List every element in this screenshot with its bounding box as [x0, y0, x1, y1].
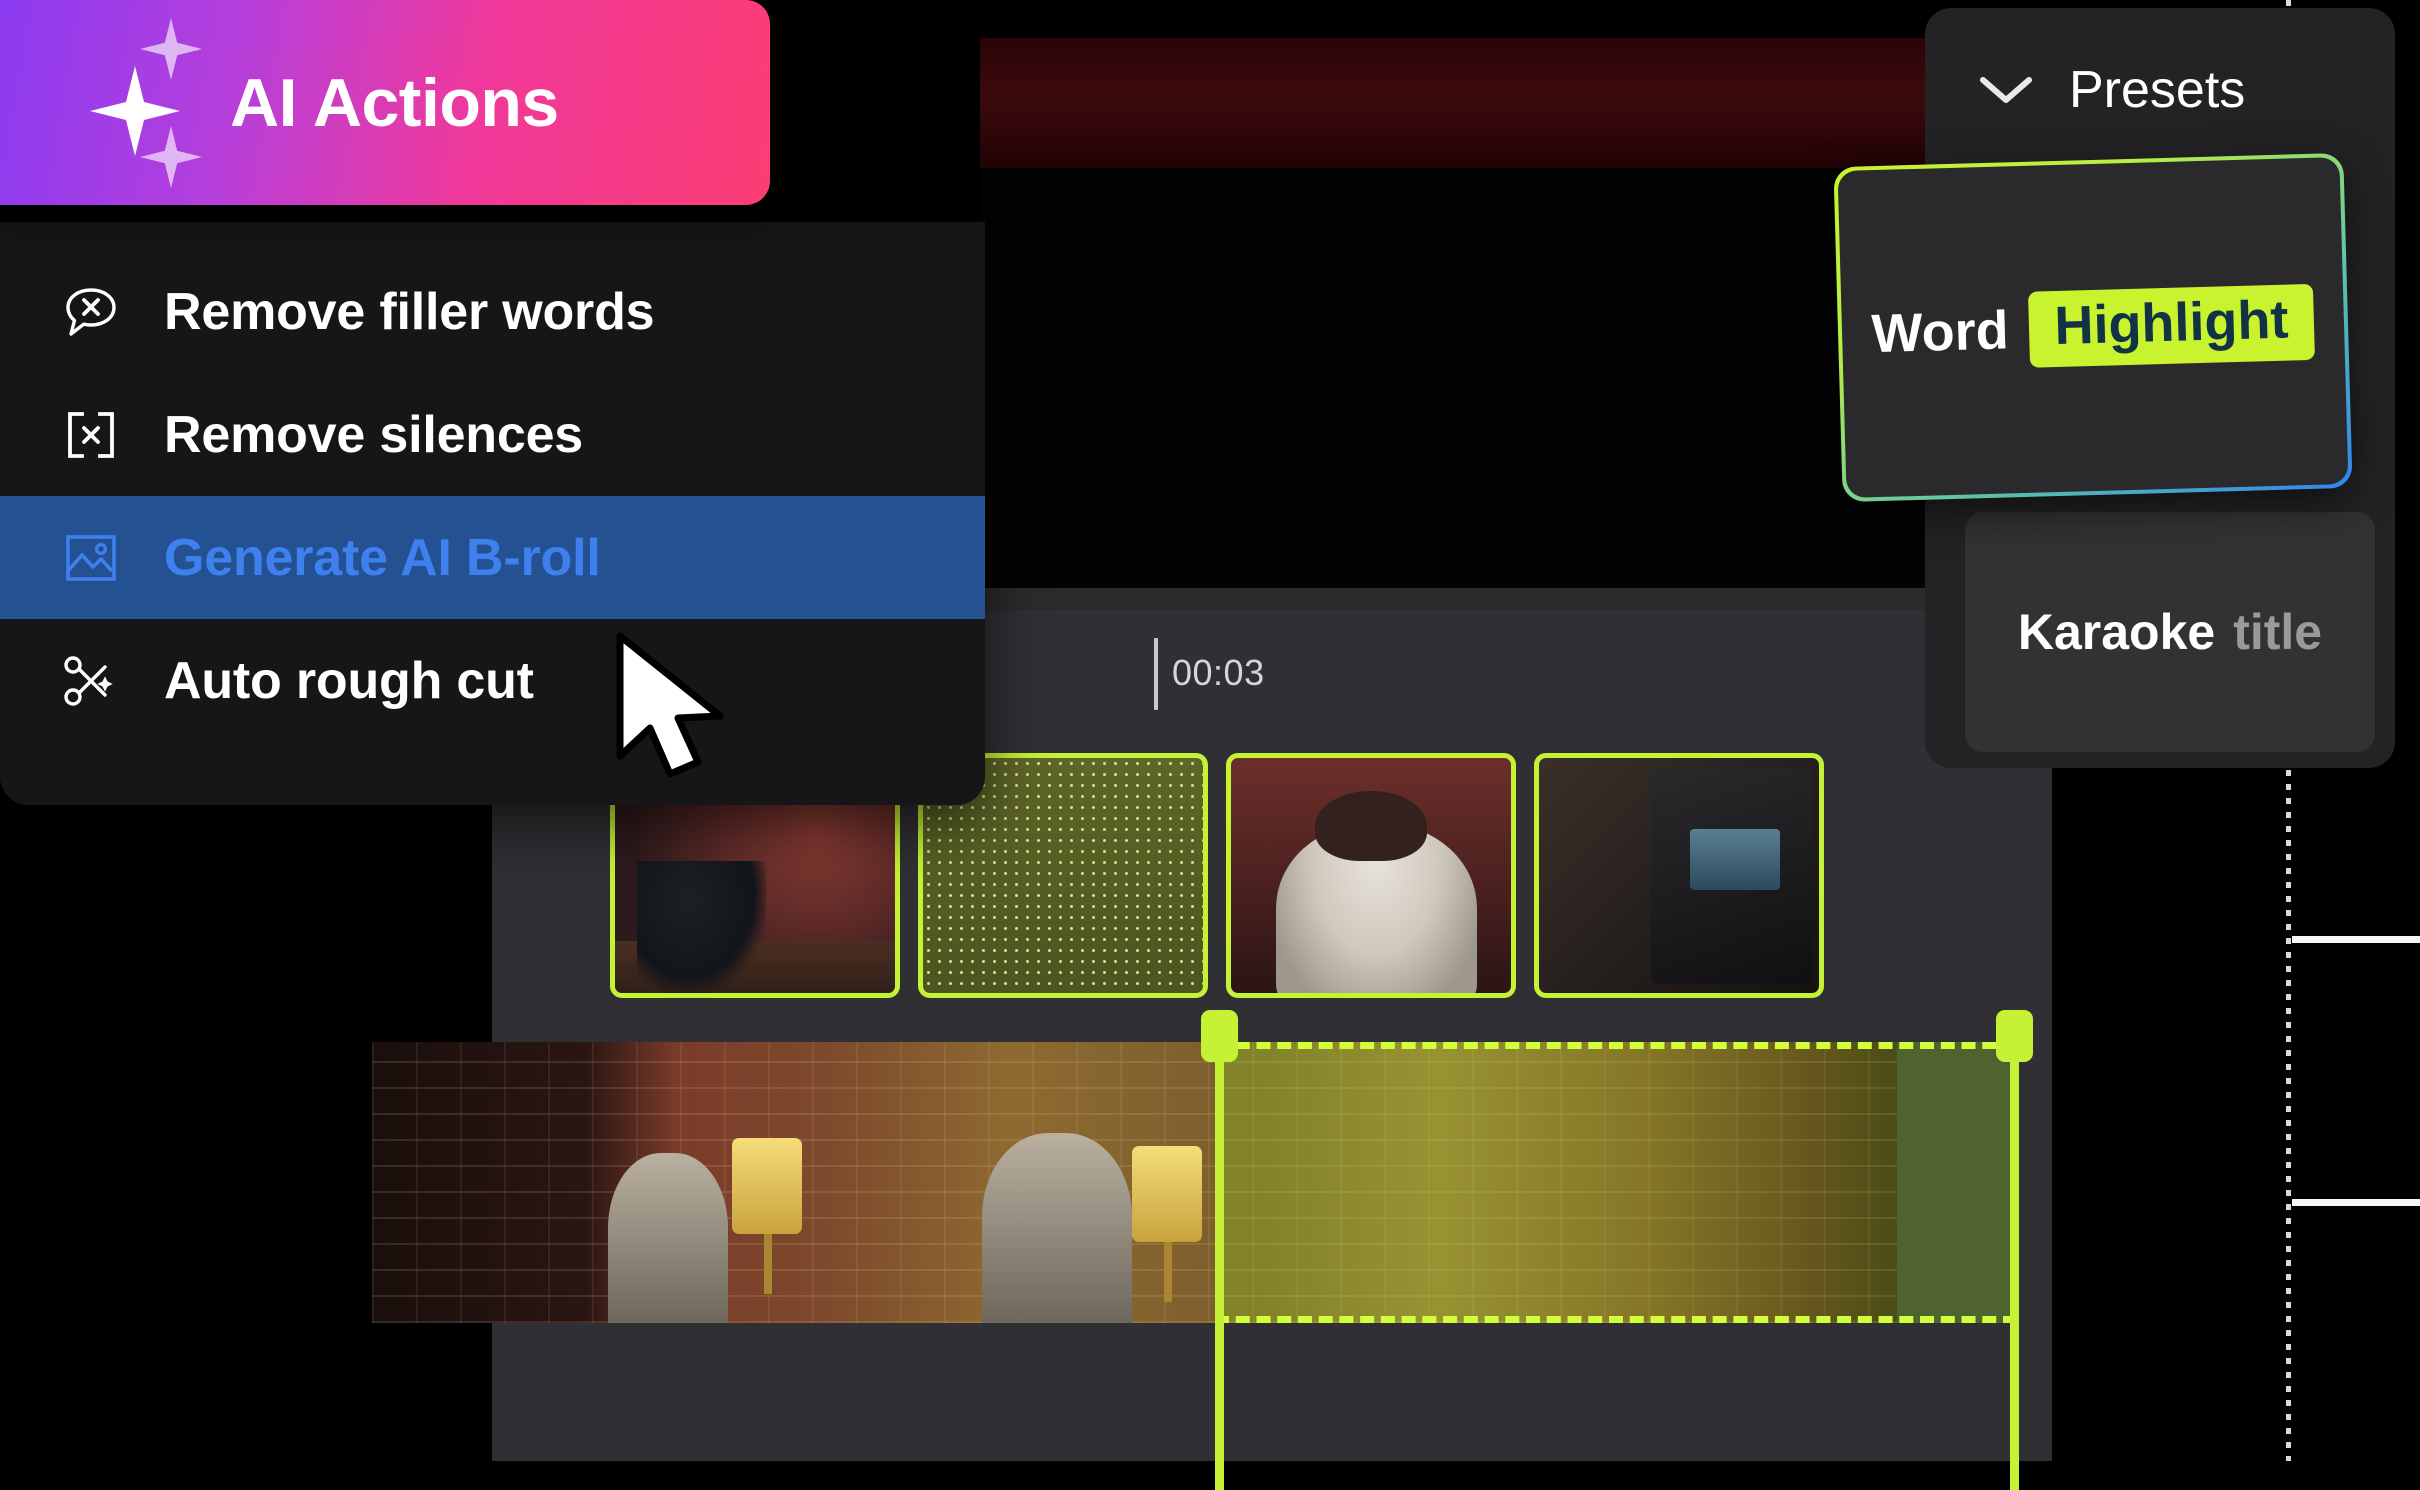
image-icon — [60, 527, 122, 589]
arrow-cursor — [612, 632, 742, 782]
rail-divider — [2292, 936, 2420, 943]
presets-header[interactable]: Presets — [1925, 8, 2395, 120]
preview-toolbar-strip — [980, 588, 1940, 610]
sparkles-icon — [0, 0, 230, 205]
chevron-down-icon[interactable] — [1977, 73, 2035, 107]
menu-item-remove-filler-words[interactable]: Remove filler words — [0, 250, 985, 373]
video-preview-band — [980, 38, 1940, 168]
ai-actions-label: AI Actions — [230, 64, 559, 142]
bracket-x-icon — [60, 404, 122, 466]
menu-item-label: Auto rough cut — [164, 651, 534, 711]
trim-handle-right[interactable] — [2010, 1010, 2019, 1490]
karaoke-main-word: Karaoke — [2018, 603, 2215, 661]
menu-item-label: Generate AI B-roll — [164, 528, 601, 588]
ai-actions-menu[interactable]: Remove filler words Remove silences Gene… — [0, 222, 985, 805]
preset-highlight-chip: Highlight — [2027, 283, 2315, 367]
broll-clip-thumbnail[interactable] — [1534, 753, 1824, 998]
speech-bubble-x-icon — [60, 281, 122, 343]
preset-card-word-highlight[interactable]: Word Highlight — [1833, 153, 2352, 502]
ruler-tick — [1154, 638, 1158, 710]
menu-item-auto-rough-cut[interactable]: Auto rough cut — [0, 619, 985, 742]
presets-title: Presets — [2069, 60, 2245, 120]
menu-item-label: Remove silences — [164, 405, 583, 465]
karaoke-sub-word: title — [2233, 603, 2322, 661]
preset-card-karaoke-title[interactable]: Karaoke title — [1965, 512, 2375, 752]
menu-item-generate-ai-b-roll[interactable]: Generate AI B-roll — [0, 496, 985, 619]
broll-clip-thumbnail[interactable] — [1226, 753, 1516, 998]
menu-item-label: Remove filler words — [164, 282, 654, 342]
ruler-label: 00:03 — [1172, 652, 1265, 694]
video-preview-area — [980, 168, 1940, 588]
menu-item-remove-silences[interactable]: Remove silences — [0, 373, 985, 496]
clip-selection-overlay[interactable] — [1215, 1042, 2017, 1323]
rail-divider — [2292, 1199, 2420, 1206]
ai-actions-button[interactable]: AI Actions — [0, 0, 770, 205]
trim-handle-left[interactable] — [1215, 1010, 1224, 1490]
editor-background: 01 00:02 00:03 — [0, 0, 2420, 1461]
preset-word-label: Word — [1871, 299, 2010, 365]
scissors-sparkle-icon — [60, 650, 122, 712]
